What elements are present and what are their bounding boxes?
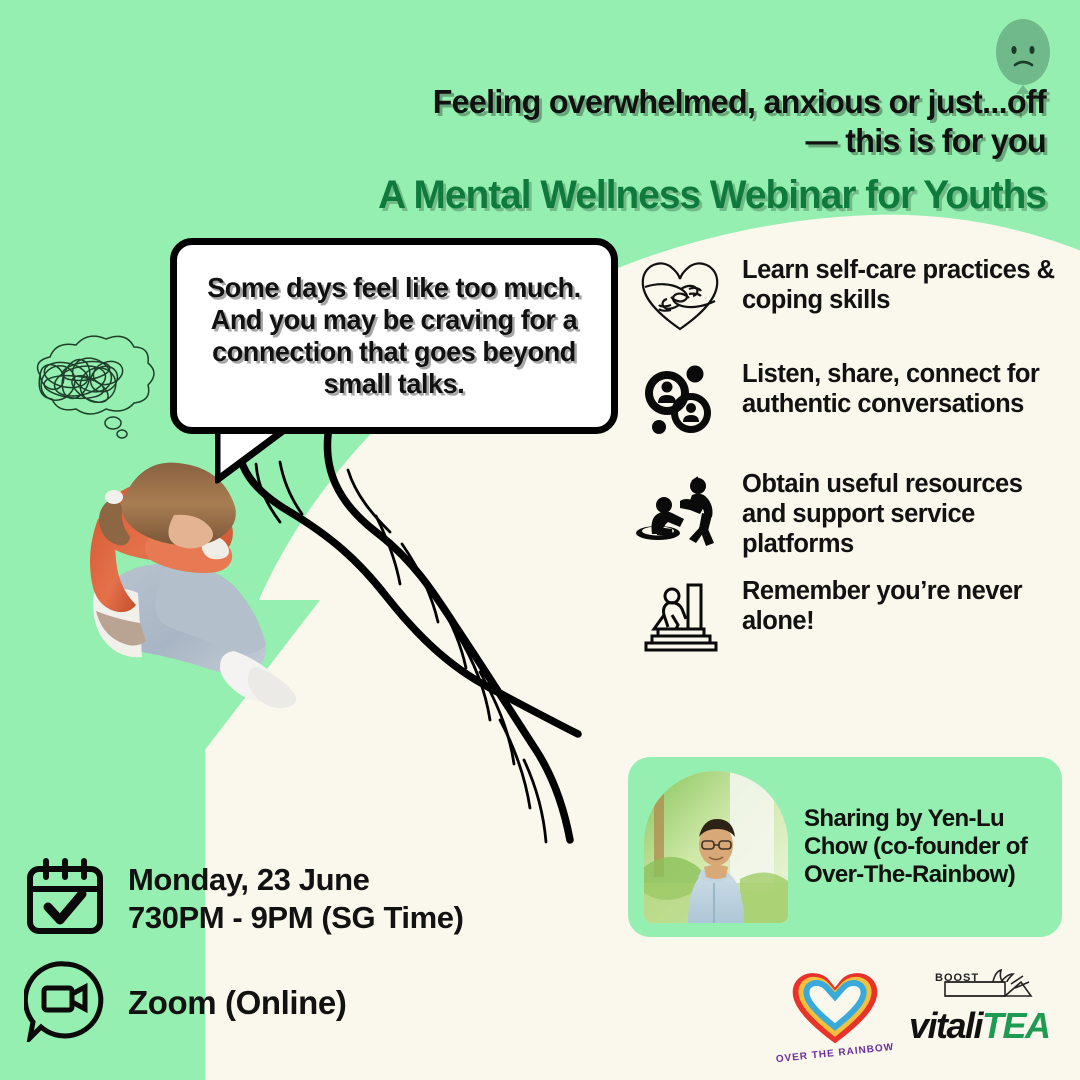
vitalitea-boost-text: BOOST <box>935 972 979 984</box>
speech-bubble: Some days feel like too much. And you ma… <box>170 238 618 434</box>
speech-bubble-text: Some days feel like too much. And you ma… <box>181 272 606 400</box>
speaker-name-role: Sharing by Yen-Lu Chow (co-founder of Ov… <box>804 805 1046 890</box>
yen-lu-chow-portrait <box>644 771 788 923</box>
speaker-card: Sharing by Yen-Lu Chow (co-founder of Ov… <box>628 757 1062 937</box>
headline-line-1: Feeling overwhelmed, anxious or just...o… <box>316 84 1046 123</box>
vitalitea-word-part-2: TEA <box>982 1005 1050 1046</box>
headline-subtitle: A Mental Wellness Webinar for Youths <box>309 173 1046 217</box>
benefit-text: Learn self-care practices & coping skill… <box>742 252 1066 316</box>
event-date-text: Monday, 23 June 730PM - 9PM (SG Time) <box>128 861 464 937</box>
event-date-line-1: Monday, 23 June <box>128 861 464 899</box>
calendar-check-icon <box>24 855 106 942</box>
vitalitea-logo: BOOST vitaliTEA <box>909 968 1059 1054</box>
rainbow-heart-icon <box>775 961 895 1047</box>
poster-canvas: Some days feel like too much. And you ma… <box>0 0 1080 1080</box>
benefit-item: Listen, share, connect for authentic con… <box>636 356 1066 444</box>
vitalitea-wordmark: vitaliTEA <box>909 1008 1059 1044</box>
partner-logos: OVER THE RAINBOW BOOST vitaliTEA <box>775 958 1065 1063</box>
vitalitea-word-part-1: vitali <box>909 1005 982 1046</box>
benefit-item: Learn self-care practices & coping skill… <box>636 252 1066 340</box>
benefit-text: Remember you’re never alone! <box>742 573 1066 637</box>
benefit-text: Listen, share, connect for authentic con… <box>742 356 1066 420</box>
benefits-list: Learn self-care practices & coping skill… <box>636 252 1066 679</box>
event-date-row: Monday, 23 June 730PM - 9PM (SG Time) <box>24 855 464 942</box>
heart-hug-icon <box>636 252 724 340</box>
event-date-line-2: 730PM - 9PM (SG Time) <box>128 899 464 937</box>
benefit-item: Obtain useful resources and support serv… <box>636 466 1066 559</box>
event-platform-text: Zoom (Online) <box>128 983 346 1023</box>
helping-hand-icon <box>636 466 724 554</box>
benefit-text: Obtain useful resources and support serv… <box>742 466 1066 559</box>
headline-line-2: — this is for you <box>316 123 1046 162</box>
headline-block: Feeling overwhelmed, anxious or just...o… <box>286 84 1046 217</box>
people-connect-icon <box>636 356 724 444</box>
video-chat-icon <box>24 960 106 1047</box>
benefit-item: Remember you’re never alone! <box>636 573 1066 661</box>
over-the-rainbow-logo: OVER THE RAINBOW <box>775 961 895 1061</box>
event-platform-row: Zoom (Online) <box>24 960 346 1047</box>
person-leaning-pillar-icon <box>636 573 724 661</box>
